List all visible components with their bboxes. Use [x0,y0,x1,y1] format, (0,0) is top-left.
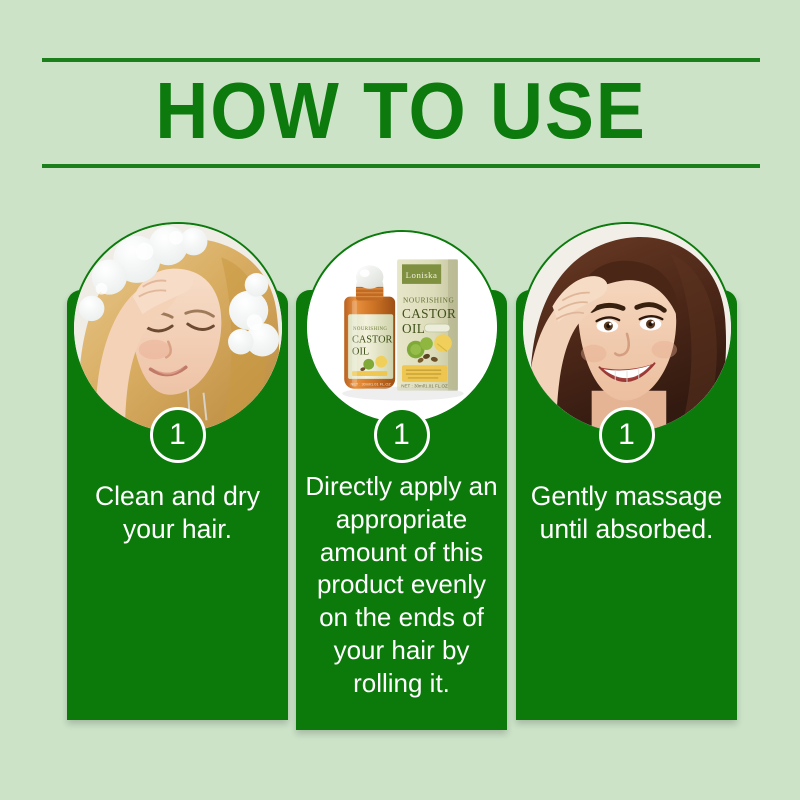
svg-text:Loniska: Loniska [405,270,437,280]
svg-text:NOURISHING: NOURISHING [402,296,454,305]
step-card-2: Loniska NOURISHING CASTOR OIL [296,290,507,730]
header: HOW TO USE [42,58,760,168]
step-text-2: Directly apply an appropriate amount of … [304,470,499,699]
svg-text:OIL: OIL [402,321,425,336]
woman-washing-hair-photo [72,222,284,434]
step-badge-2: 1 [374,407,430,463]
step-badge-3: 1 [599,407,655,463]
step-badge-1: 1 [150,407,206,463]
step-card-1: 1 Clean and dry your hair. [67,290,288,720]
svg-text:NOURISHING: NOURISHING [353,327,387,332]
step-text-1: Clean and dry your hair. [75,480,280,547]
svg-text:CASTOR: CASTOR [402,306,456,321]
woman-smiling-photo [521,222,733,434]
svg-text:CASTOR: CASTOR [352,335,392,346]
step-text-3: Gently massage until absorbed. [524,480,729,547]
page-title: HOW TO USE [71,58,732,168]
castor-oil-product-photo: Loniska NOURISHING CASTOR OIL [305,230,499,424]
steps-row: 1 Clean and dry your hair. [0,290,800,730]
title-rule-bottom [42,164,760,168]
step-card-3: 1 Gently massage until absorbed. [516,290,737,720]
